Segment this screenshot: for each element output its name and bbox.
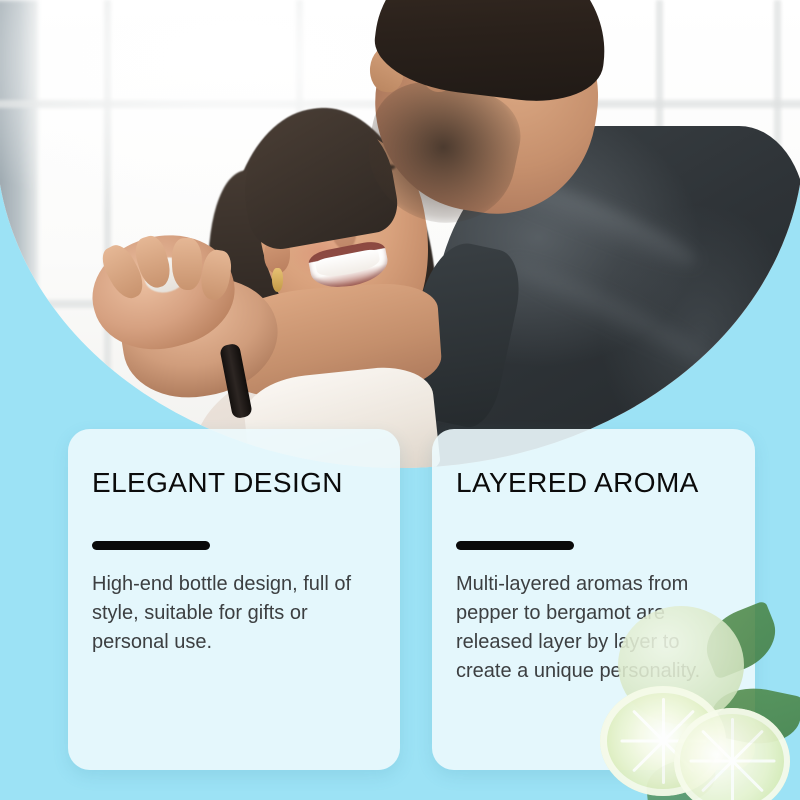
feature-card-elegant-design: ELEGANT DESIGN High-end bottle design, f… (68, 429, 400, 770)
feature-card-body: Multi-layered aromas from pepper to berg… (456, 570, 739, 686)
feature-card-body: High-end bottle design, full of style, s… (92, 570, 384, 657)
woman-earring (272, 268, 283, 292)
feature-card-divider (92, 541, 210, 550)
feature-card-layered-aroma: LAYERED AROMA Multi-layered aromas from … (432, 429, 755, 770)
hero-photo (0, 0, 800, 468)
feature-card-divider (456, 541, 574, 550)
product-feature-poster: ELEGANT DESIGN High-end bottle design, f… (0, 0, 800, 800)
feature-card-title: LAYERED AROMA (456, 467, 699, 499)
feature-card-title: ELEGANT DESIGN (92, 467, 343, 499)
hero-photo-inner (0, 0, 800, 468)
finger (171, 237, 203, 290)
